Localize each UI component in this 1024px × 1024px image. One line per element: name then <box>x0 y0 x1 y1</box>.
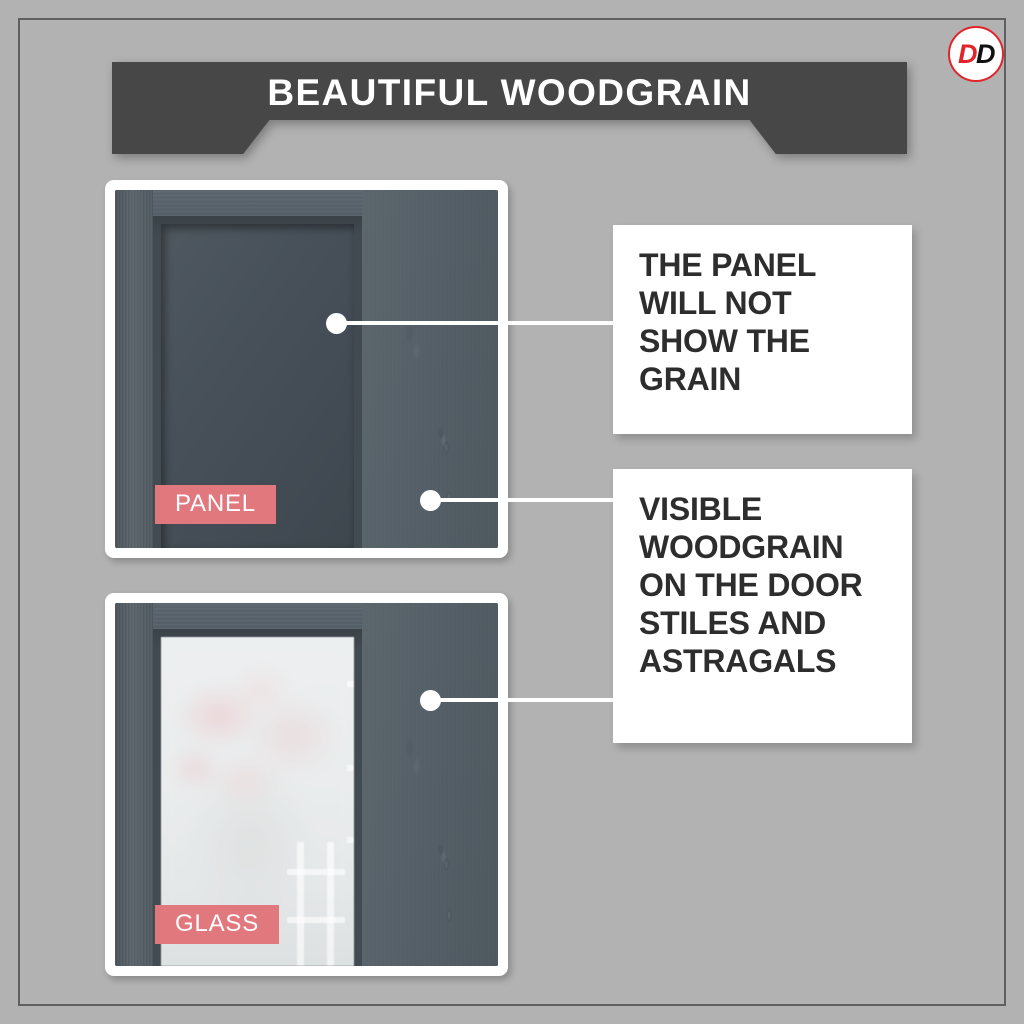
door-top-rail <box>153 190 362 216</box>
leader-line-panel <box>336 321 616 325</box>
brand-logo[interactable]: DD <box>948 26 1004 82</box>
glass-mullion-h3 <box>347 681 354 687</box>
leader-line-stile-lower <box>430 698 616 702</box>
page-title: BEAUTIFUL WOODGRAIN <box>112 72 907 114</box>
leader-line-stile-upper <box>430 498 616 502</box>
brand-letter-second: D <box>976 39 994 69</box>
door-stile-left-glass <box>115 603 153 966</box>
tag-label-glass: GLASS <box>155 905 279 944</box>
glass-mullion-v1 <box>297 842 304 966</box>
tag-label-panel: PANEL <box>155 485 276 524</box>
leader-dot-panel <box>326 313 347 334</box>
glass-mullion-h2 <box>287 917 345 923</box>
callout-box-panel-no-grain[interactable]: THE PANEL WILL NOT SHOW THE GRAIN <box>613 225 912 434</box>
glass-mullion-h4 <box>347 765 354 771</box>
infographic-canvas: DD BEAUTIFUL WOODGRAIN PANEL <box>0 0 1024 1024</box>
glass-mullion-h1 <box>287 869 345 875</box>
brand-letter-first: D <box>958 39 976 69</box>
glass-mullion-v2 <box>327 842 334 966</box>
door-top-rail-glass <box>153 603 362 629</box>
glass-mullion-h5 <box>347 837 354 843</box>
woodgrain-texture-glass <box>362 603 498 966</box>
leader-dot-stile-upper <box>420 490 441 511</box>
leader-dot-stile-lower <box>420 690 441 711</box>
door-stile-left <box>115 190 153 548</box>
callout-box-visible-woodgrain[interactable]: VISIBLE WOODGRAIN ON THE DOOR STILES AND… <box>613 469 912 743</box>
callout-text-panel-no-grain: THE PANEL WILL NOT SHOW THE GRAIN <box>639 247 886 399</box>
title-ribbon-banner: BEAUTIFUL WOODGRAIN <box>112 62 907 154</box>
callout-text-visible-woodgrain: VISIBLE WOODGRAIN ON THE DOOR STILES AND… <box>639 491 886 681</box>
door-stile-right-glass <box>362 603 498 966</box>
